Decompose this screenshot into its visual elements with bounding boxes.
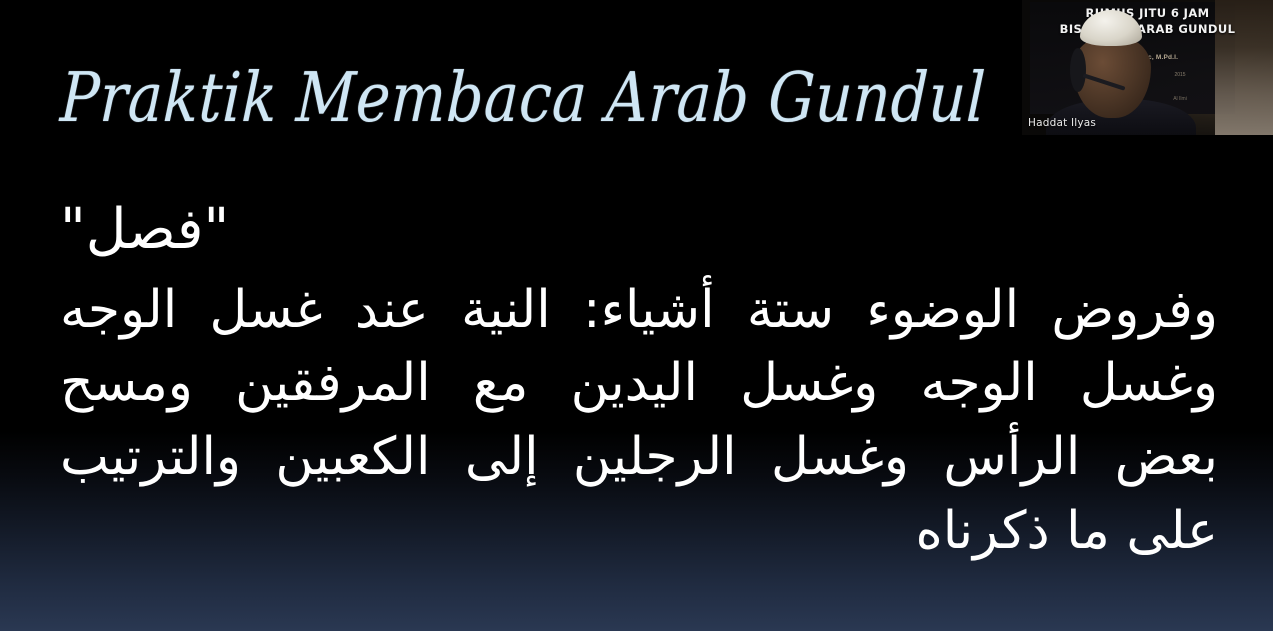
arabic-line-1: وفروض الوضوء ستة أشياء: النية عند غسل ال… (60, 274, 1218, 348)
arabic-section-heading: "فصل" (60, 190, 1218, 270)
arabic-line-4: على ما ذكرناه (60, 495, 1218, 569)
slide-title: Praktik Membaca Arab Gundul (59, 62, 987, 134)
headset-icon (1070, 48, 1086, 92)
participant-name-label: Haddat Ilyas (1028, 117, 1096, 129)
speaker-cap (1080, 10, 1142, 46)
arabic-line-2: وغسل الوجه وغسل اليدين مع المرفقين ومسح (60, 347, 1218, 421)
presentation-screen: Praktik Membaca Arab Gundul "فصل" وفروض … (0, 0, 1273, 631)
arabic-line-3: بعض الرأس وغسل الرجلين إلى الكعبين والتر… (60, 421, 1218, 495)
participant-video-tile[interactable]: RUMUS JITU 6 JAM BISA BACA ARAB GUNDUL ©… (1022, 0, 1273, 135)
arabic-text-block: "فصل" وفروض الوضوء ستة أشياء: النية عند … (60, 190, 1218, 569)
